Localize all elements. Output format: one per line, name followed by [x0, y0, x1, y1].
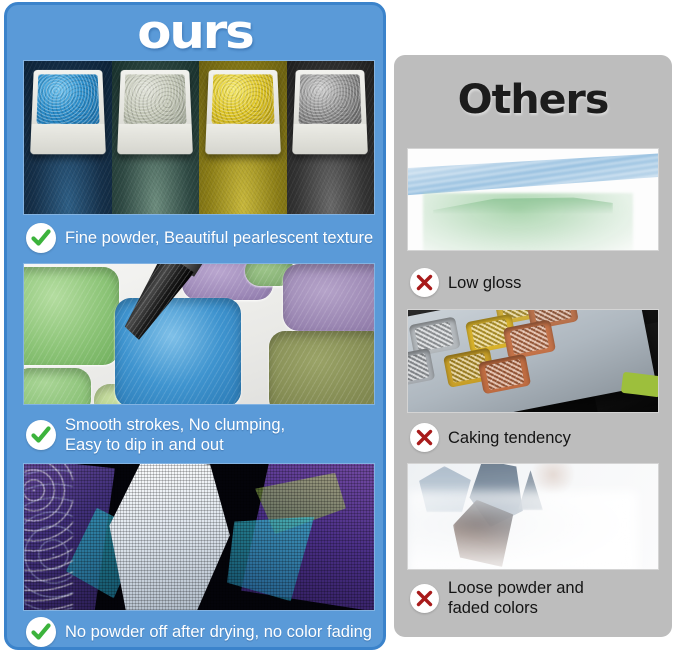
- palette-pan-green: [23, 267, 119, 365]
- pale-wash-artwork: [408, 149, 658, 250]
- ours-feature-3-label: No powder off after drying, no color fad…: [65, 622, 372, 642]
- others-feature-1-label: Low gloss: [448, 273, 521, 293]
- others-feature-1: Low gloss: [410, 268, 521, 297]
- faded-landscape-artwork: [408, 464, 658, 569]
- artwork-stroke-teal: [227, 517, 318, 602]
- x-icon: [410, 423, 439, 452]
- tray-green-pan: [621, 371, 658, 396]
- artwork-stroke-purple: [241, 464, 374, 610]
- watercolor-palette: [24, 264, 374, 404]
- pan-rim: [293, 124, 368, 154]
- landscape-glow: [528, 464, 578, 493]
- palette-pan-purple: [283, 264, 375, 331]
- pan-box: [205, 70, 280, 154]
- others-panel: Others: [394, 55, 672, 637]
- pan-rim: [205, 124, 280, 154]
- pan-rim: [118, 124, 193, 154]
- artwork-stroke-purple: [24, 464, 115, 610]
- palette-pan-olive: [269, 331, 375, 405]
- others-feature-3-label: Loose powder and faded colors: [448, 578, 584, 618]
- x-icon: [410, 268, 439, 297]
- powder-pan-blue: [24, 61, 112, 214]
- x-icon: [410, 584, 439, 613]
- artwork-speckles: [24, 464, 73, 610]
- pan-box: [118, 70, 193, 154]
- ours-photo-artwork: [23, 463, 375, 611]
- caked-pan-silver: [408, 348, 436, 388]
- pan-box: [30, 70, 105, 154]
- ours-panel: ours: [4, 2, 386, 650]
- ours-feature-2-label: Smooth strokes, No clumping, Easy to dip…: [65, 415, 285, 455]
- pearlescent-artwork: [24, 464, 374, 610]
- ours-title: ours: [4, 6, 386, 60]
- ours-feature-1: Fine powder, Beautiful pearlescent textu…: [26, 223, 373, 253]
- ours-feature-1-label: Fine powder, Beautiful pearlescent textu…: [65, 228, 373, 248]
- pan-fill: [299, 75, 362, 124]
- others-photo-low-gloss: [407, 148, 659, 251]
- pan-fill: [124, 75, 187, 124]
- ours-feature-3: No powder off after drying, no color fad…: [26, 617, 372, 647]
- pan-box: [293, 70, 368, 154]
- ours-photo-palette-brush: [23, 263, 375, 405]
- check-icon: [26, 420, 56, 450]
- others-feature-2: Caking tendency: [410, 423, 571, 452]
- check-icon: [26, 617, 56, 647]
- metallic-tray-photo: [408, 310, 658, 412]
- pan-rim: [30, 124, 105, 154]
- artwork-stroke-lime: [255, 473, 346, 534]
- landscape-mist: [408, 491, 638, 569]
- powder-pan-silver-sage: [112, 61, 200, 214]
- ours-photo-powder-pans: [23, 60, 375, 215]
- others-feature-2-label: Caking tendency: [448, 428, 571, 448]
- artwork-stroke-white: [101, 464, 241, 610]
- artwork-stroke-teal: [66, 508, 143, 599]
- check-icon: [26, 223, 56, 253]
- others-title: Others: [390, 77, 676, 123]
- powder-pan-graphite: [287, 61, 375, 214]
- pan-fill: [211, 75, 274, 124]
- palette-pan-green: [23, 368, 91, 405]
- powder-pan-gold: [199, 61, 287, 214]
- pan-fill: [36, 75, 99, 124]
- others-photo-faded: [407, 463, 659, 570]
- others-photo-caking: [407, 309, 659, 413]
- others-feature-3: Loose powder and faded colors: [410, 578, 584, 618]
- ours-feature-2: Smooth strokes, No clumping, Easy to dip…: [26, 415, 285, 455]
